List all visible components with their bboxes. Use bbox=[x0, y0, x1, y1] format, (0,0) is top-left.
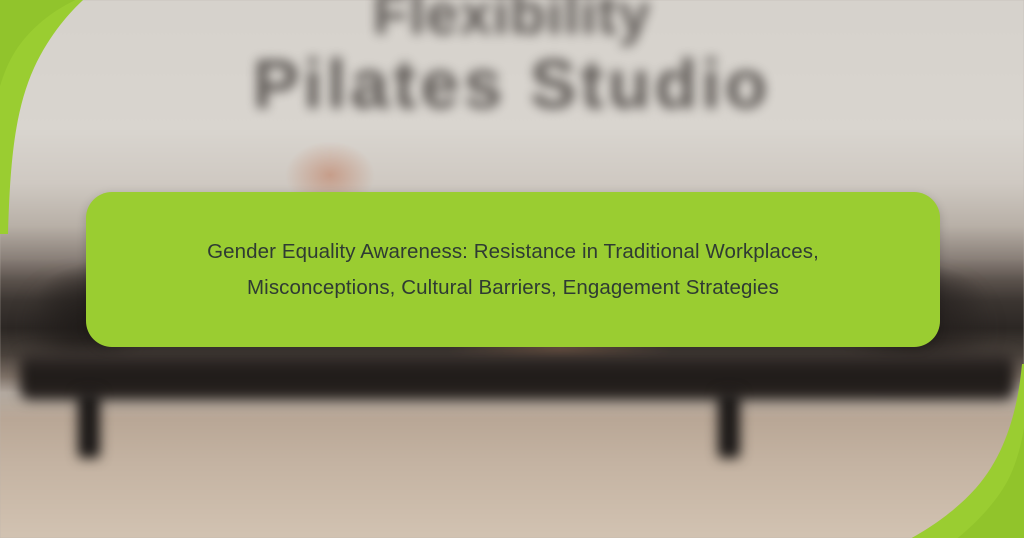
equipment-bar-blur bbox=[20, 352, 1014, 400]
wall-sign-line-1: Flexibility bbox=[0, 0, 1024, 46]
slide-root: Flexibility Pilates Studio Gender Equali… bbox=[0, 0, 1024, 538]
equipment-leg-left bbox=[78, 392, 100, 458]
wall-sign-line-2: Pilates Studio bbox=[0, 46, 1024, 122]
title-card: Gender Equality Awareness: Resistance in… bbox=[86, 192, 940, 347]
card-title-text: Gender Equality Awareness: Resistance in… bbox=[163, 234, 863, 306]
equipment-leg-right bbox=[718, 392, 740, 458]
wall-sign-text: Flexibility Pilates Studio bbox=[0, 0, 1024, 122]
